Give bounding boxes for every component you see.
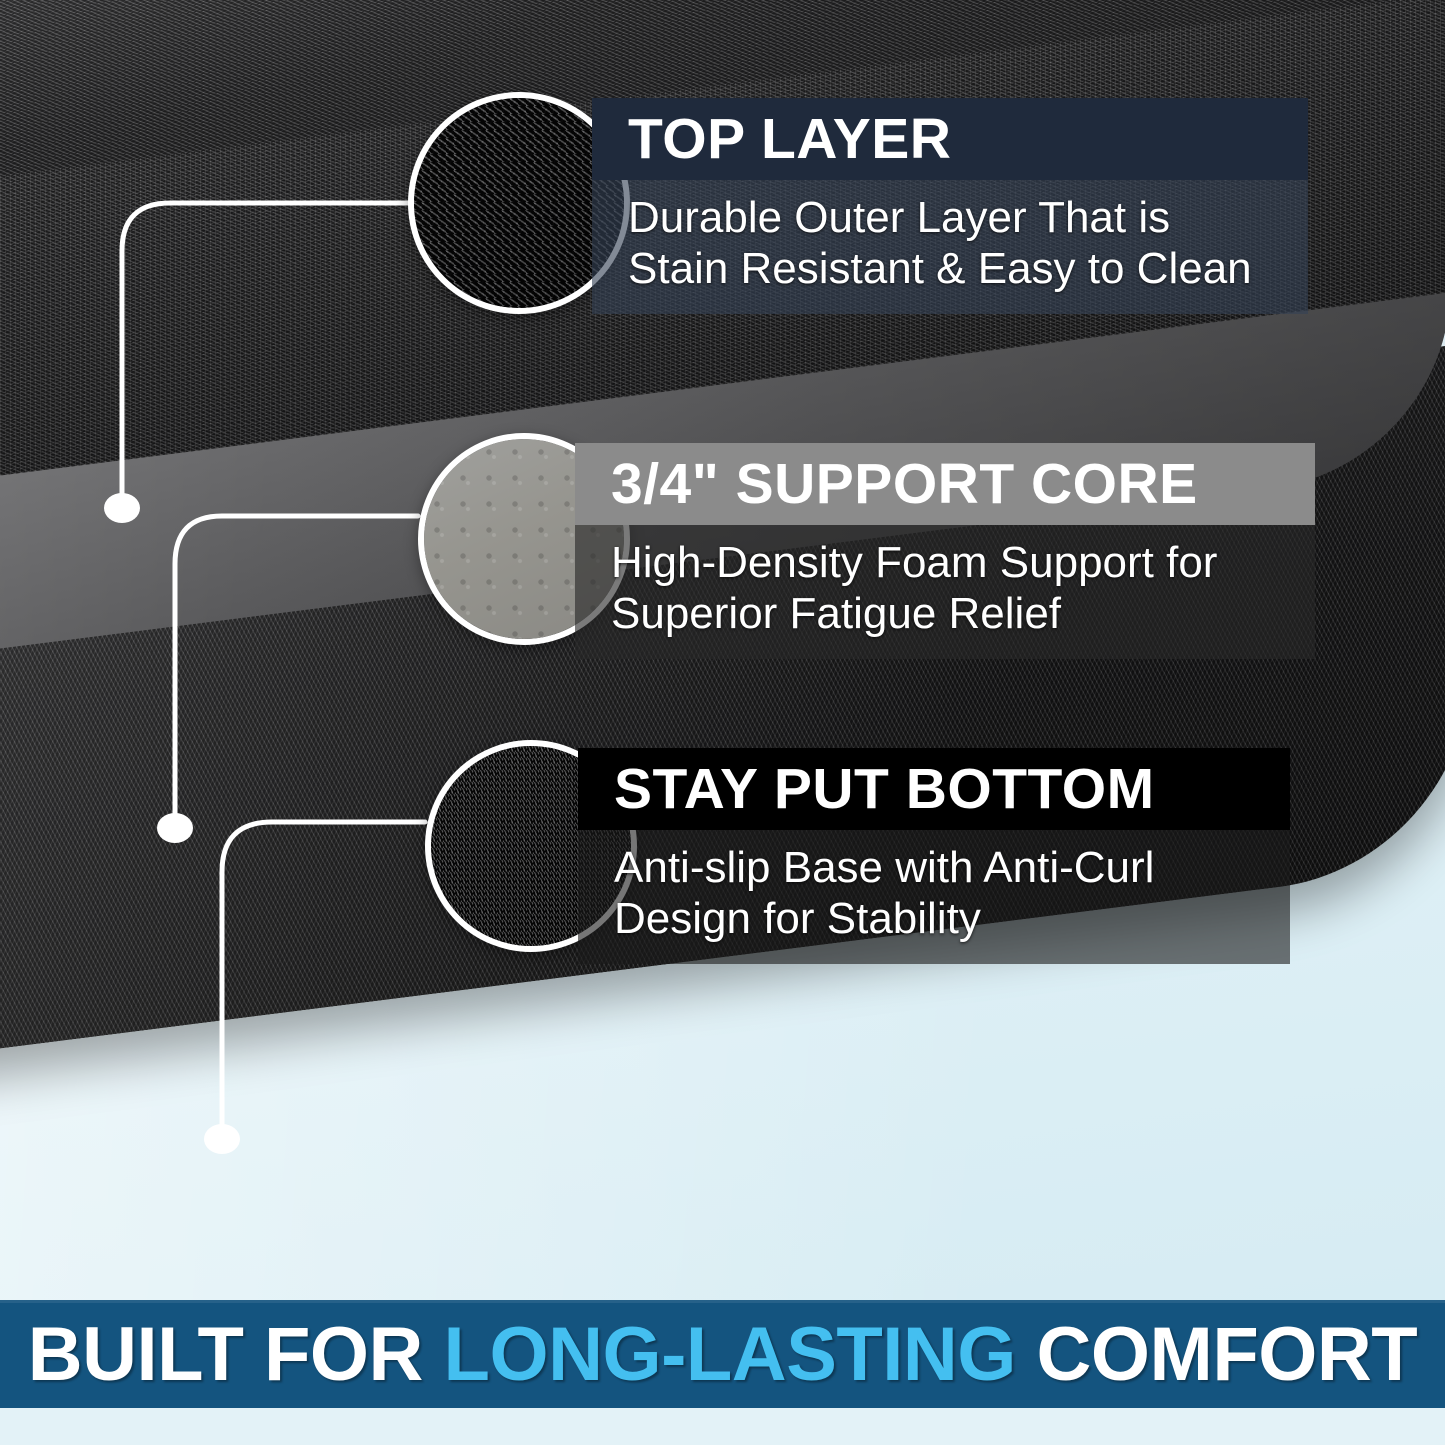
bottom-banner-text: BUILT FOR LONG-LASTING COMFORT [28,1311,1417,1398]
product-infographic: TOP LAYER Durable Outer Layer That is St… [0,0,1445,1445]
callout-support-core-description-line1: High-Density Foam Support for [611,537,1293,588]
callout-support-core-title: 3/4" SUPPORT CORE [575,443,1315,525]
callout-stay-put-bottom-title: STAY PUT BOTTOM [578,748,1290,830]
callout-support-core-description: High-Density Foam Support for Superior F… [575,525,1315,659]
callout-top-layer-description-line1: Durable Outer Layer That is [628,192,1286,243]
banner-text-part2: LONG-LASTING [444,1312,1016,1397]
bottom-banner-underline-strip [0,1408,1445,1445]
callout-stay-put-bottom-description: Anti-slip Base with Anti-Curl Design for… [578,830,1290,964]
callout-support-core: 3/4" SUPPORT CORE High-Density Foam Supp… [575,443,1315,659]
callout-top-layer: TOP LAYER Durable Outer Layer That is St… [592,98,1308,314]
banner-text-part3: COMFORT [1016,1312,1417,1397]
callout-stay-put-bottom-description-line1: Anti-slip Base with Anti-Curl [614,842,1268,893]
banner-text-part1: BUILT FOR [28,1312,444,1397]
callout-top-layer-description-line2: Stain Resistant & Easy to Clean [628,243,1286,294]
bottom-banner: BUILT FOR LONG-LASTING COMFORT [0,1300,1445,1408]
callout-stay-put-bottom: STAY PUT BOTTOM Anti-slip Base with Anti… [578,748,1290,964]
callout-stay-put-bottom-description-line2: Design for Stability [614,893,1268,944]
callout-top-layer-title: TOP LAYER [592,98,1308,180]
callout-top-layer-description: Durable Outer Layer That is Stain Resist… [592,180,1308,314]
callout-support-core-description-line2: Superior Fatigue Relief [611,588,1293,639]
